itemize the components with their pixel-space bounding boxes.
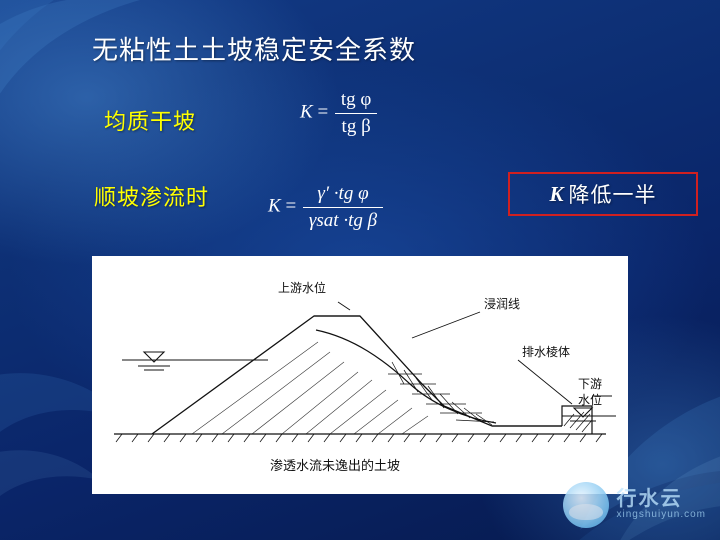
figure-label-drainage-prism: 排水棱体	[522, 344, 570, 359]
leader-upstream-level	[338, 302, 350, 310]
formula-dry-numerator: tg φ	[335, 88, 378, 114]
formula-seepage-numerator: γ′ ·tg φ	[303, 182, 383, 208]
figure-label-upstream-level: 上游水位	[278, 280, 326, 295]
label-homogeneous-dry-slope: 均质干坡	[104, 104, 196, 136]
figure-embankment-seepage: 上游水位 浸润线 排水棱体 下游 水位 渗透水流未逸出的土坡	[92, 256, 628, 494]
formula-seepage-fraction: γ′ ·tg φ γsat ·tg β	[303, 182, 383, 233]
leader-drainage-prism	[518, 360, 572, 404]
figure-label-phreatic-line: 浸润线	[484, 297, 520, 311]
k-halved-text: 降低一半	[569, 179, 657, 209]
figure-label-downstream-level-2: 水位	[578, 392, 602, 407]
formula-dry-slope: K = tg φ tg β	[300, 88, 379, 139]
formula-dry-fraction: tg φ tg β	[335, 88, 378, 139]
ground-hatching	[116, 434, 602, 442]
status-badge-k-halved: K 降低一半	[508, 172, 698, 216]
phreatic-line	[316, 330, 496, 423]
formula-dry-denominator: tg β	[335, 114, 378, 139]
formula-dry-equals: =	[317, 102, 328, 123]
figure-caption: 渗透水流未逸出的土坡	[270, 458, 400, 474]
figure-label-downstream-level-1: 下游	[578, 377, 602, 391]
dam-body-texture	[192, 342, 428, 434]
watermark-sub-text: xingshuiyun.com	[617, 510, 706, 521]
watermark-texts: 行水云 xingshuiyun.com	[617, 489, 706, 521]
watermark-main-text: 行水云	[617, 489, 706, 510]
k-symbol: K	[549, 182, 564, 207]
leader-phreatic-line	[412, 312, 480, 338]
formula-seepage: K = γ′ ·tg φ γsat ·tg β	[268, 182, 385, 233]
drainage-prism-hatching	[564, 412, 592, 432]
seepage-zone-hatching	[388, 362, 494, 425]
label-seepage-along-slope: 顺坡渗流时	[94, 180, 209, 212]
formula-dry-lhs: K	[300, 102, 313, 123]
formula-seepage-equals: =	[285, 196, 296, 217]
page-title: 无粘性土土坡稳定安全系数	[92, 30, 416, 67]
slide: 无粘性土土坡稳定安全系数 均质干坡 顺坡渗流时 K = tg φ tg β K …	[0, 0, 720, 540]
dam-outline	[152, 316, 562, 434]
formula-seepage-lhs: K	[268, 196, 281, 217]
formula-seepage-denominator: γsat ·tg β	[303, 208, 383, 233]
figure-drawing: 上游水位 浸润线 排水棱体 下游 水位 渗透水流未逸出的土坡	[92, 256, 628, 494]
